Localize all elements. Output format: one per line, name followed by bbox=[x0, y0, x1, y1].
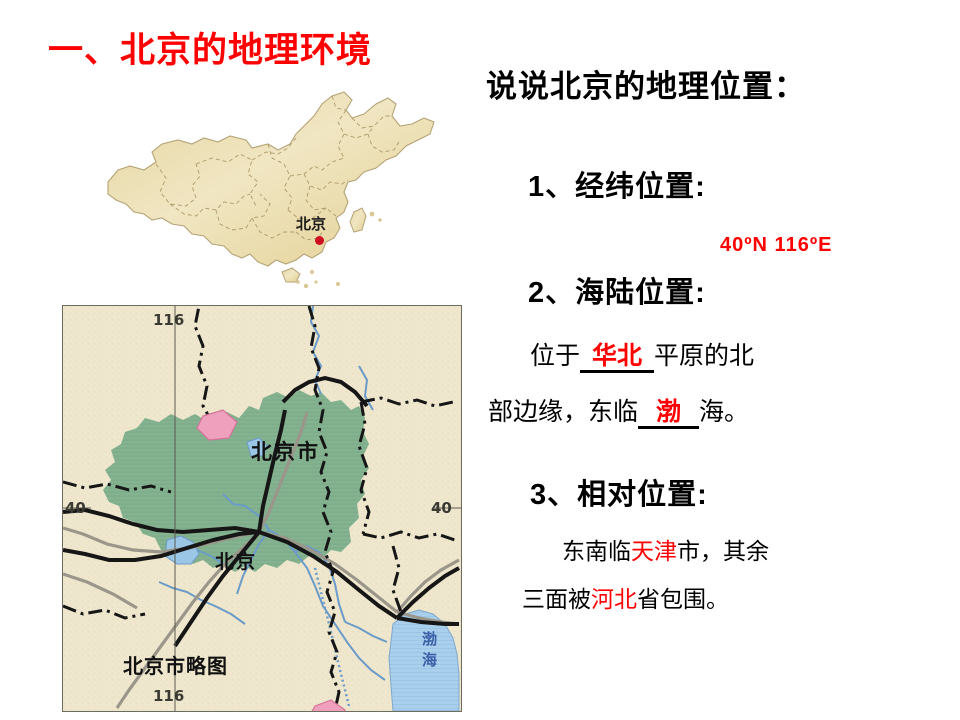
china-map-graphic bbox=[100, 82, 472, 302]
china-map: 北京 bbox=[100, 82, 472, 302]
section3-line1: 东南临天津市，其余 bbox=[562, 538, 769, 566]
page-title: 一、北京的地理环境 bbox=[48, 33, 372, 68]
section2-line2-pre: 部边缘，东临 bbox=[488, 398, 638, 426]
section3-line2: 三面被河北省包围。 bbox=[522, 586, 729, 614]
section3-line2-post: 省包围。 bbox=[637, 586, 729, 612]
section2-blank2: 渤 bbox=[638, 398, 699, 429]
section2-heading: 2、海陆位置: bbox=[528, 278, 706, 310]
section2-line1-post: 平原的北 bbox=[654, 342, 754, 370]
section2-line2-post: 海。 bbox=[699, 398, 749, 426]
section3-highlight-tianjin: 天津 bbox=[631, 538, 677, 564]
section3-line1-post: 市，其余 bbox=[677, 538, 769, 564]
section3-line2-pre: 三面被 bbox=[522, 586, 591, 612]
section1-heading: 1、经纬位置: bbox=[528, 172, 706, 204]
china-map-capital-marker-icon bbox=[315, 236, 324, 245]
section2-blank1: 华北 bbox=[580, 342, 654, 373]
question-heading: 说说北京的地理位置： bbox=[486, 70, 806, 104]
china-map-capital-label: 北京 bbox=[296, 213, 326, 234]
section2-line1: 位于华北平原的北 bbox=[530, 342, 754, 371]
coordinates-value: 40ºN 116ºE bbox=[720, 234, 832, 257]
beijing-detail-map: 北京市 北京 天津 北京市略图 116 116 40 40 渤海 bbox=[62, 305, 462, 712]
section2-line1-pre: 位于 bbox=[530, 342, 580, 370]
section2-line2: 部边缘，东临渤海。 bbox=[488, 398, 749, 427]
beijing-map-graphic bbox=[63, 306, 461, 711]
section3-heading: 3、相对位置: bbox=[530, 480, 708, 512]
section3-line1-pre: 东南临 bbox=[562, 538, 631, 564]
section3-highlight-hebei: 河北 bbox=[591, 586, 637, 612]
